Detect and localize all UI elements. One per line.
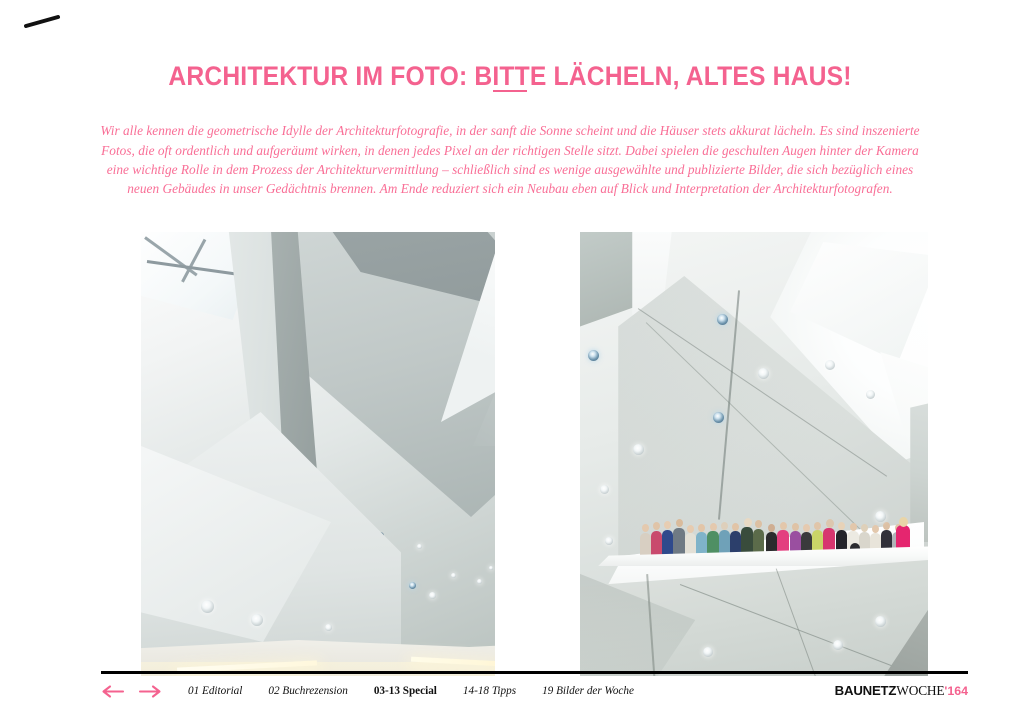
intro-paragraph: Wir alle kennen die geometrische Idylle … [95, 121, 925, 198]
brand-issue-number: '164 [944, 684, 968, 698]
photo-left-spot [201, 600, 214, 613]
footer-divider [101, 671, 968, 674]
photo-left-spot [251, 614, 263, 626]
brand-logo: BAUNETZWOCHE'164 [835, 683, 968, 699]
photo-left-spot [417, 544, 422, 549]
pager-controls [101, 685, 162, 698]
photo-gallery: kunsthalle besucher mich [101, 216, 968, 660]
nav-item-bilder-der-woche[interactable]: 19 Bilder der Woche [542, 685, 634, 697]
section-nav: 01 Editorial 02 Buchrezension 03-13 Spec… [188, 685, 660, 697]
nav-item-special[interactable]: 03-13 Special [374, 685, 437, 697]
photo-left[interactable]: kunsthalle besucher mich [141, 232, 495, 676]
brand-woche: WOCHE [896, 683, 944, 698]
arrow-right-icon[interactable] [138, 685, 162, 698]
page-title: ARCHITEKTUR IM FOTO: BITTE LÄCHELN, ALTE… [36, 62, 985, 91]
nav-item-editorial[interactable]: 01 Editorial [188, 685, 242, 697]
corner-stroke-mark [24, 14, 64, 28]
title-divider [493, 90, 527, 92]
brand-baunetz: BAUNETZ [835, 683, 897, 698]
photo-left-spot [429, 592, 436, 599]
photo-left-spot [489, 566, 493, 570]
arrow-left-icon[interactable] [101, 685, 125, 698]
nav-item-tipps[interactable]: 14-18 Tipps [463, 685, 516, 697]
photo-right[interactable] [580, 232, 928, 676]
photo-left-spot [409, 582, 416, 589]
photo-left-spot [325, 624, 332, 631]
footer-bar: 01 Editorial 02 Buchrezension 03-13 Spec… [101, 680, 968, 702]
nav-item-buchrezension[interactable]: 02 Buchrezension [268, 685, 347, 697]
photo-left-spot [477, 579, 482, 584]
photo-left-spot [451, 573, 456, 578]
